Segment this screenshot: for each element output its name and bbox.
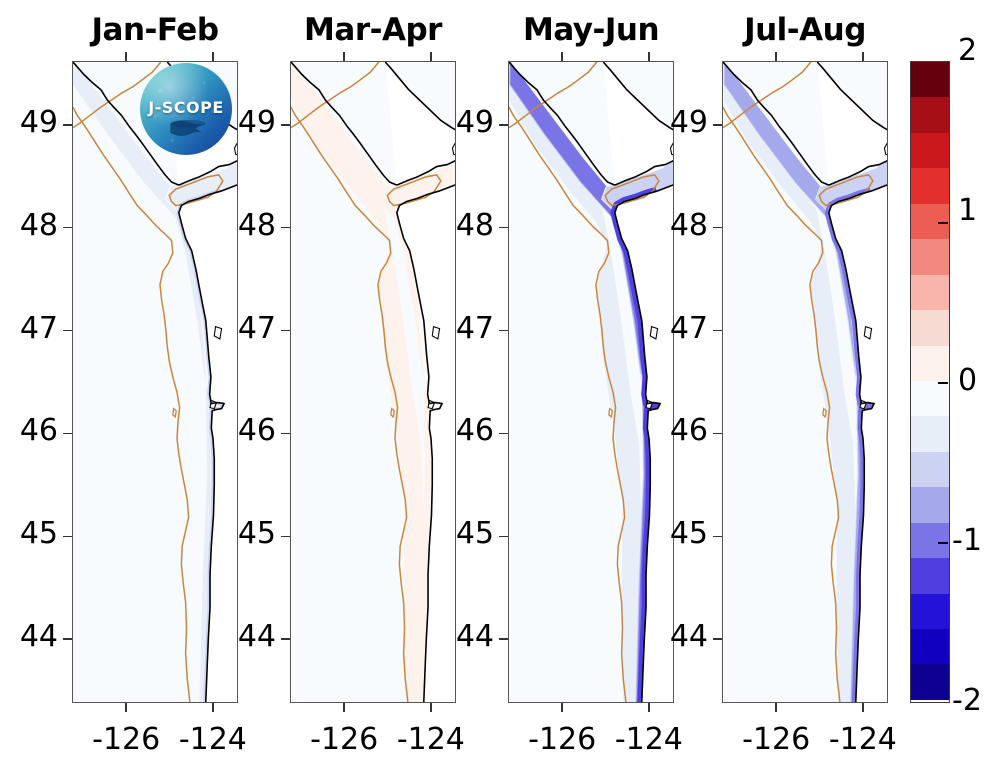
y-tick-label: 47 [10, 311, 58, 346]
x-tickmark-top [125, 52, 127, 61]
y-tickmark [713, 638, 722, 640]
y-tick-label: 48 [228, 208, 276, 243]
y-tickmark [499, 227, 508, 229]
y-tickmark [281, 638, 290, 640]
colorbar-band [911, 346, 949, 381]
y-tick-label: 44 [10, 619, 58, 654]
x-tickmark [862, 703, 864, 712]
x-tick-label: -126 [512, 722, 612, 757]
colorbar-tick-1 [938, 222, 948, 224]
y-tickmark [63, 124, 72, 126]
y-tick-label: 46 [10, 413, 58, 448]
panel-title-3: May-Jun [508, 12, 674, 48]
y-tickmark [499, 330, 508, 332]
y-tick-label: 45 [228, 516, 276, 551]
map-field [509, 62, 673, 702]
colorbar-band [911, 416, 949, 451]
map-panel-jul-aug[interactable] [722, 61, 888, 703]
y-tickmark [63, 638, 72, 640]
x-tick-label: -124 [813, 722, 913, 757]
panel-title-4: Jul-Aug [722, 12, 888, 48]
map-panel-mar-apr[interactable] [290, 61, 456, 703]
y-tickmark [713, 227, 722, 229]
colorbar-label-0: 0 [958, 363, 977, 398]
x-tickmark-top [430, 52, 432, 61]
y-tick-label: 48 [660, 208, 708, 243]
y-tick-label: 48 [446, 208, 494, 243]
colorbar-band [911, 629, 949, 664]
y-tick-label: 47 [228, 311, 276, 346]
map-field [291, 62, 455, 702]
x-tickmark [125, 703, 127, 712]
y-tickmark [713, 536, 722, 538]
y-tick-label: 49 [660, 105, 708, 140]
map-field [73, 62, 237, 702]
map-panel-jan-feb[interactable] [72, 61, 238, 703]
y-tick-label: 48 [10, 208, 58, 243]
y-tick-label: 44 [228, 619, 276, 654]
colorbar-band [911, 310, 949, 345]
y-tickmark [281, 227, 290, 229]
y-tick-label: 44 [660, 619, 708, 654]
y-tickmark [63, 433, 72, 435]
y-tickmark [63, 536, 72, 538]
x-tickmark [212, 703, 214, 712]
colorbar-label-1: 1 [958, 193, 977, 228]
y-tickmark [281, 330, 290, 332]
x-tickmark [561, 703, 563, 712]
x-tickmark [343, 703, 345, 712]
colorbar-tick-0 [938, 382, 948, 384]
x-tickmark-top [775, 52, 777, 61]
y-tick-label: 46 [660, 413, 708, 448]
y-tickmark [281, 536, 290, 538]
y-tick-label: 47 [446, 311, 494, 346]
j-scope-logo-text: J-SCOPE [140, 98, 232, 117]
colorbar-band [911, 275, 949, 310]
y-tick-label: 49 [10, 105, 58, 140]
colorbar-label-2: 2 [958, 33, 977, 68]
colorbar-band [911, 168, 949, 203]
x-tickmark [775, 703, 777, 712]
x-tick-label: -126 [76, 722, 176, 757]
y-tick-label: 44 [446, 619, 494, 654]
y-tickmark [713, 124, 722, 126]
x-tickmark-top [648, 52, 650, 61]
y-tick-label: 47 [660, 311, 708, 346]
y-tickmark [63, 330, 72, 332]
y-tickmark [713, 330, 722, 332]
colorbar-tick-neg1 [938, 542, 948, 544]
x-tickmark [430, 703, 432, 712]
x-tickmark [648, 703, 650, 712]
colorbar-band [911, 97, 949, 132]
y-tick-label: 49 [446, 105, 494, 140]
colorbar-label-neg1: -1 [952, 523, 982, 558]
colorbar-band [911, 558, 949, 593]
colorbar-band [911, 487, 949, 522]
y-tick-label: 45 [10, 516, 58, 551]
x-tick-label: -124 [163, 722, 263, 757]
y-tickmark [499, 638, 508, 640]
y-tick-label: 46 [446, 413, 494, 448]
colorbar-band [911, 62, 949, 97]
y-tick-label: 45 [660, 516, 708, 551]
colorbar-band [911, 523, 949, 558]
y-tick-label: 46 [228, 413, 276, 448]
y-tick-label: 49 [228, 105, 276, 140]
colorbar-band [911, 381, 949, 416]
x-tick-label: -124 [381, 722, 481, 757]
figure-canvas: Jan-Feb Mar-Apr May-Jun Jul-Aug [0, 0, 1000, 774]
y-tickmark [499, 536, 508, 538]
colorbar-band [911, 239, 949, 274]
map-field [723, 62, 887, 702]
map-panel-may-jun[interactable] [508, 61, 674, 703]
y-tick-label: 45 [446, 516, 494, 551]
x-tickmark-top [561, 52, 563, 61]
x-tickmark-top [343, 52, 345, 61]
y-tickmark [281, 124, 290, 126]
y-tickmark [713, 433, 722, 435]
x-tick-label: -124 [599, 722, 699, 757]
colorbar-band [911, 664, 949, 699]
y-tickmark [63, 227, 72, 229]
x-tickmark-top [212, 52, 214, 61]
y-tickmark [499, 124, 508, 126]
x-tick-label: -126 [294, 722, 394, 757]
y-tickmark [281, 433, 290, 435]
colorbar-band [911, 133, 949, 168]
colorbar-label-neg2: -2 [952, 683, 982, 718]
j-scope-logo: J-SCOPE [140, 63, 232, 155]
x-tickmark-top [862, 52, 864, 61]
y-tickmark [499, 433, 508, 435]
panel-title-1: Jan-Feb [72, 12, 238, 48]
colorbar-band [911, 594, 949, 629]
x-tick-label: -126 [726, 722, 826, 757]
colorbar-band [911, 452, 949, 487]
panel-title-2: Mar-Apr [290, 12, 456, 48]
